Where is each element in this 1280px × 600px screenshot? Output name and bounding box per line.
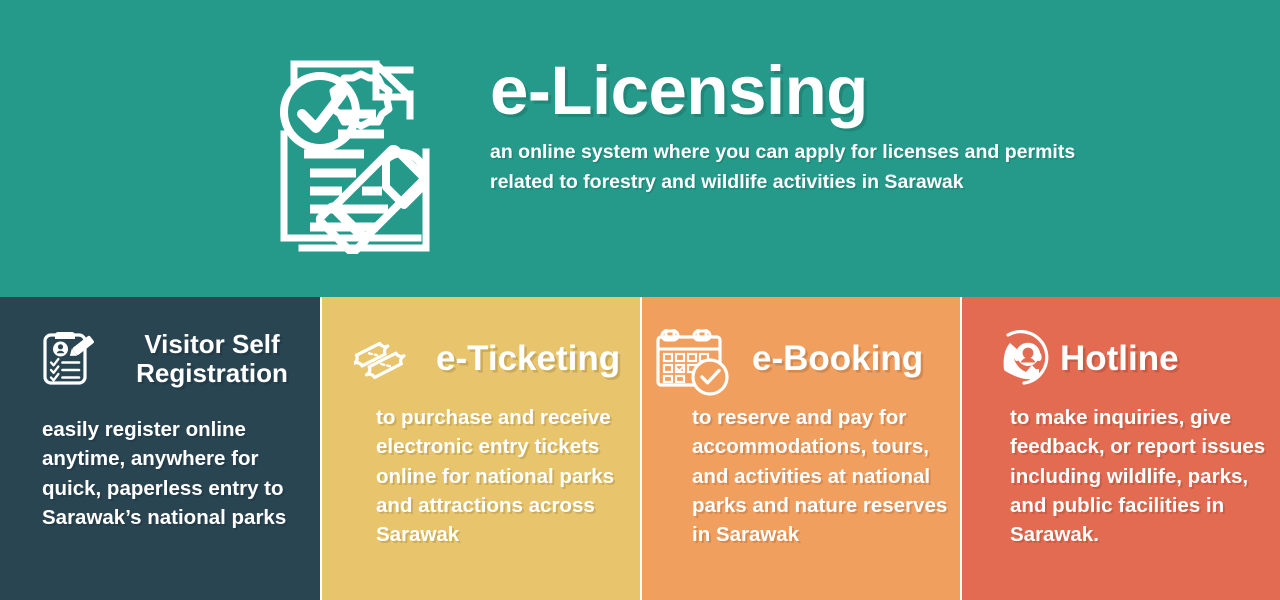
card-title: e-Booking — [752, 339, 923, 379]
clipboard-person-checklist-pencil-icon — [38, 328, 100, 390]
card-header: e-Ticketing — [322, 313, 640, 405]
two-tickets-icon — [354, 326, 428, 392]
header-text-block: e-Licensing an online system where you c… — [490, 56, 1190, 198]
page-subtitle: an online system where you can apply for… — [490, 138, 1130, 197]
service-card-e-booking[interactable]: e-Booking to reserve and pay for accommo… — [640, 297, 960, 600]
card-title: e-Ticketing — [436, 339, 620, 379]
card-description: easily register online anytime, anywhere… — [0, 415, 320, 532]
card-description: to make inquiries, give feedback, or rep… — [962, 403, 1280, 550]
phone-headset-support-icon — [988, 325, 1058, 393]
card-description: to purchase and receive electronic entry… — [322, 403, 640, 550]
calendar-check-icon — [650, 321, 736, 397]
card-header: Visitor Self Registration — [0, 311, 320, 407]
card-header: Hotline — [962, 313, 1280, 405]
page-title: e-Licensing — [490, 56, 1190, 126]
service-columns: Visitor Self Registration easily registe… — [0, 297, 1280, 600]
card-description: to reserve and pay for accommodations, t… — [642, 403, 960, 550]
service-card-hotline[interactable]: Hotline to make inquiries, give feedback… — [960, 297, 1280, 600]
document-check-stamp-icon — [258, 42, 458, 254]
infographic-poster: e-Licensing an online system where you c… — [0, 0, 1280, 600]
card-title: Visitor Self Registration — [114, 330, 310, 389]
header-banner: e-Licensing an online system where you c… — [0, 0, 1280, 297]
card-title: Hotline — [1060, 339, 1179, 379]
card-header: e-Booking — [642, 313, 960, 405]
service-card-visitor-self-registration[interactable]: Visitor Self Registration easily registe… — [0, 297, 320, 600]
service-card-e-ticketing[interactable]: e-Ticketing to purchase and receive elec… — [320, 297, 640, 600]
